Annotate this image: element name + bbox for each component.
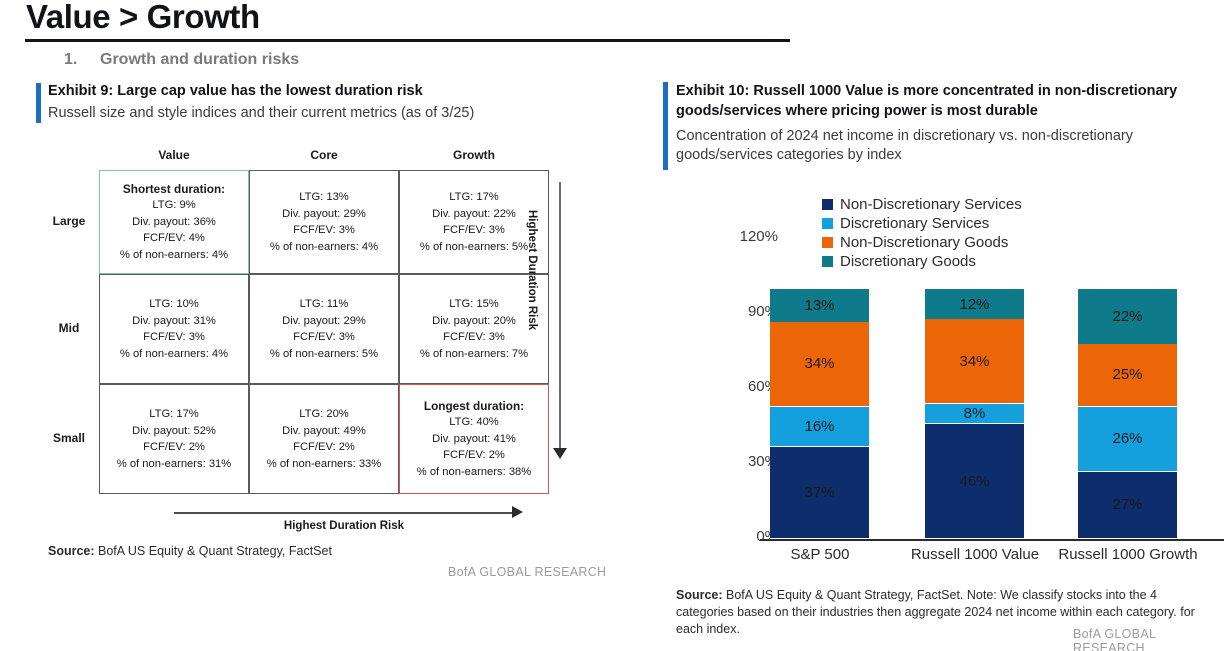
matrix-cell-metric: LTG: 10% <box>149 296 199 313</box>
matrix-cell-metric: LTG: 17% <box>449 189 499 206</box>
matrix-cell-large-value: Shortest duration:LTG: 9%Div. payout: 36… <box>99 170 249 274</box>
matrix-cell-mid-value: LTG: 10%Div. payout: 31%FCF/EV: 3%% of n… <box>99 274 249 384</box>
matrix-cell-highlight: Longest duration: <box>424 398 524 415</box>
exhibit9-title: Exhibit 9: Large cap value has the lowes… <box>48 82 608 101</box>
matrix-cell-metric: Div. payout: 52% <box>132 423 216 440</box>
bar-segment[interactable]: 26% <box>1078 407 1177 472</box>
matrix-cell-small-core: LTG: 20%Div. payout: 49%FCF/EV: 2%% of n… <box>249 384 399 494</box>
matrix-cell-metric: LTG: 11% <box>300 296 349 313</box>
x-axis-line <box>760 539 1224 541</box>
legend-item: Non-Discretionary Goods <box>822 234 1022 251</box>
matrix-cell-metric: LTG: 20% <box>299 406 349 423</box>
matrix-column-header-value: Value <box>99 148 249 162</box>
matrix-cell-metric: FCF/EV: 3% <box>143 329 205 346</box>
bar-segment-label: 34% <box>804 355 834 372</box>
matrix-row-header-mid: Mid <box>43 321 95 335</box>
bar-russell-1000-growth[interactable]: 27%26%25%22% <box>1078 289 1177 539</box>
matrix-cell-metric: % of non-earners: 38% <box>417 464 531 481</box>
legend-swatch-icon <box>822 256 833 267</box>
matrix-cell-large-core: LTG: 13%Div. payout: 29%FCF/EV: 3%% of n… <box>249 170 399 274</box>
bar-segment-label: 34% <box>959 353 989 370</box>
matrix-cell-metric: Div. payout: 31% <box>132 313 216 330</box>
bar-segment-label: 22% <box>1112 308 1142 325</box>
matrix-cell-metric: FCF/EV: 3% <box>293 329 355 346</box>
matrix-cell-metric: Div. payout: 36% <box>132 214 216 231</box>
matrix-cell-metric: Div. payout: 49% <box>282 423 366 440</box>
matrix-cell-metric: FCF/EV: 4% <box>143 230 205 247</box>
legend-label: Non-Discretionary Services <box>840 196 1022 213</box>
y-axis: 0%30%60%90%120% <box>660 180 778 580</box>
exhibit10-title: Exhibit 10: Russell 1000 Value is more c… <box>676 81 1196 121</box>
matrix-cell-metric: % of non-earners: 5% <box>270 346 378 363</box>
bar-segment[interactable]: 34% <box>770 322 869 407</box>
bar-segment-label: 13% <box>804 297 834 314</box>
matrix-cell-metric: FCF/EV: 2% <box>443 447 505 464</box>
bar-segment[interactable]: 16% <box>770 407 869 447</box>
bar-segment[interactable]: 46% <box>925 424 1024 539</box>
vertical-duration-arrow-label: Highest Duration Risk <box>526 210 538 410</box>
matrix-cell-small-value: LTG: 17%Div. payout: 52%FCF/EV: 2%% of n… <box>99 384 249 494</box>
legend-label: Discretionary Goods <box>840 253 976 270</box>
matrix-cell-metric: % of non-earners: 33% <box>267 456 381 473</box>
exhibit9-accent-bar <box>36 83 41 123</box>
legend-swatch-icon <box>822 199 833 210</box>
bar-segment-label: 37% <box>804 484 834 501</box>
matrix-row-header-large: Large <box>43 214 95 228</box>
matrix-cell-metric: LTG: 9% <box>152 197 195 214</box>
matrix-cell-metric: Div. payout: 29% <box>282 313 366 330</box>
matrix-cell-metric: FCF/EV: 3% <box>443 329 505 346</box>
matrix-cell-metric: % of non-earners: 4% <box>120 247 228 264</box>
stacked-bar-chart: 0%30%60%90%120% Non-Discretionary Servic… <box>660 180 1220 580</box>
bar-segment[interactable]: 8% <box>925 404 1024 424</box>
legend-label: Non-Discretionary Goods <box>840 234 1008 251</box>
bar-segment-label: 27% <box>1112 496 1142 513</box>
horizontal-duration-arrow-line <box>174 512 514 514</box>
matrix-cell-highlight: Shortest duration: <box>123 181 225 198</box>
matrix-cell-metric: LTG: 15% <box>449 296 499 313</box>
chart-legend: Non-Discretionary ServicesDiscretionary … <box>822 196 1022 272</box>
legend-item: Discretionary Services <box>822 215 1022 232</box>
slide-page: Value > Growth 1. Growth and duration ri… <box>0 0 1224 651</box>
exhibit9-brand: BofA GLOBAL RESEARCH <box>448 565 606 579</box>
legend-swatch-icon <box>822 218 833 229</box>
matrix-cell-metric: FCF/EV: 2% <box>143 439 205 456</box>
matrix-cell-metric: Div. payout: 41% <box>432 431 516 448</box>
matrix-cell-mid-core: LTG: 11%Div. payout: 29%FCF/EV: 3%% of n… <box>249 274 399 384</box>
matrix-cell-metric: FCF/EV: 3% <box>443 222 505 239</box>
matrix-cell-metric: LTG: 40% <box>449 414 499 431</box>
matrix-cell-metric: % of non-earners: 4% <box>120 346 228 363</box>
bar-s-p-500[interactable]: 37%16%34%13% <box>770 289 869 539</box>
bar-segment[interactable]: 13% <box>770 289 869 322</box>
bar-segment[interactable]: 22% <box>1078 289 1177 344</box>
bar-segment[interactable]: 27% <box>1078 472 1177 540</box>
matrix-cell-metric: % of non-earners: 5% <box>420 239 528 256</box>
legend-item: Non-Discretionary Services <box>822 196 1022 213</box>
bar-segment[interactable]: 25% <box>1078 344 1177 407</box>
legend-item: Discretionary Goods <box>822 253 1022 270</box>
matrix-cell-metric: FCF/EV: 3% <box>293 222 355 239</box>
matrix-column-header-growth: Growth <box>399 148 549 162</box>
bar-segment[interactable]: 34% <box>925 319 1024 404</box>
exhibit10-accent-bar <box>663 82 668 170</box>
legend-label: Discretionary Services <box>840 215 989 232</box>
bar-segment-label: 12% <box>959 296 989 313</box>
x-axis-label-russell-1000-growth: Russell 1000 Growth <box>1033 546 1223 563</box>
y-axis-tick-120: 120% <box>722 228 778 245</box>
exhibit9-subtitle: Russell size and style indices and their… <box>48 104 628 123</box>
legend-swatch-icon <box>822 237 833 248</box>
section-number: 1. <box>64 51 77 69</box>
exhibit9-source: Source: BofA US Equity & Quant Strategy,… <box>48 543 588 560</box>
bar-russell-1000-value[interactable]: 46%8%34%12% <box>925 289 1024 539</box>
bar-segment-label: 26% <box>1112 430 1142 447</box>
page-title: Value > Growth <box>26 0 260 36</box>
matrix-column-header-core: Core <box>249 148 399 162</box>
bar-segment[interactable]: 12% <box>925 289 1024 319</box>
matrix-row-header-small: Small <box>43 431 95 445</box>
matrix-cell-metric: FCF/EV: 2% <box>293 439 355 456</box>
exhibit10-subtitle: Concentration of 2024 net income in disc… <box>676 127 1186 165</box>
horizontal-duration-arrow-head <box>512 506 523 518</box>
vertical-duration-arrow-line <box>559 182 561 452</box>
section-heading: Growth and duration risks <box>100 51 299 69</box>
exhibit10-source-label: Source: <box>676 588 723 602</box>
bar-segment[interactable]: 37% <box>770 447 869 540</box>
matrix-cell-metric: Div. payout: 29% <box>282 206 366 223</box>
bar-segment-label: 16% <box>804 418 834 435</box>
matrix-cell-metric: LTG: 17% <box>149 406 199 423</box>
matrix-cell-metric: Div. payout: 20% <box>432 313 516 330</box>
exhibit10-brand: BofA GLOBAL RESEARCH <box>1073 627 1224 651</box>
horizontal-duration-arrow-label: Highest Duration Risk <box>174 520 514 532</box>
matrix-cell-metric: % of non-earners: 4% <box>270 239 378 256</box>
vertical-duration-arrow-head <box>553 448 567 459</box>
title-divider <box>25 39 790 42</box>
exhibit9-source-text: BofA US Equity & Quant Strategy, FactSet <box>95 544 332 558</box>
bar-segment-label: 25% <box>1112 366 1142 383</box>
bar-segment-label: 46% <box>959 473 989 490</box>
exhibit9-source-label: Source: <box>48 544 95 558</box>
matrix-cell-metric: % of non-earners: 7% <box>420 346 528 363</box>
bar-segment-label: 8% <box>964 405 986 422</box>
matrix-cell-metric: % of non-earners: 31% <box>117 456 231 473</box>
matrix-cell-metric: LTG: 13% <box>299 189 349 206</box>
matrix-cell-metric: Div. payout: 22% <box>432 206 516 223</box>
